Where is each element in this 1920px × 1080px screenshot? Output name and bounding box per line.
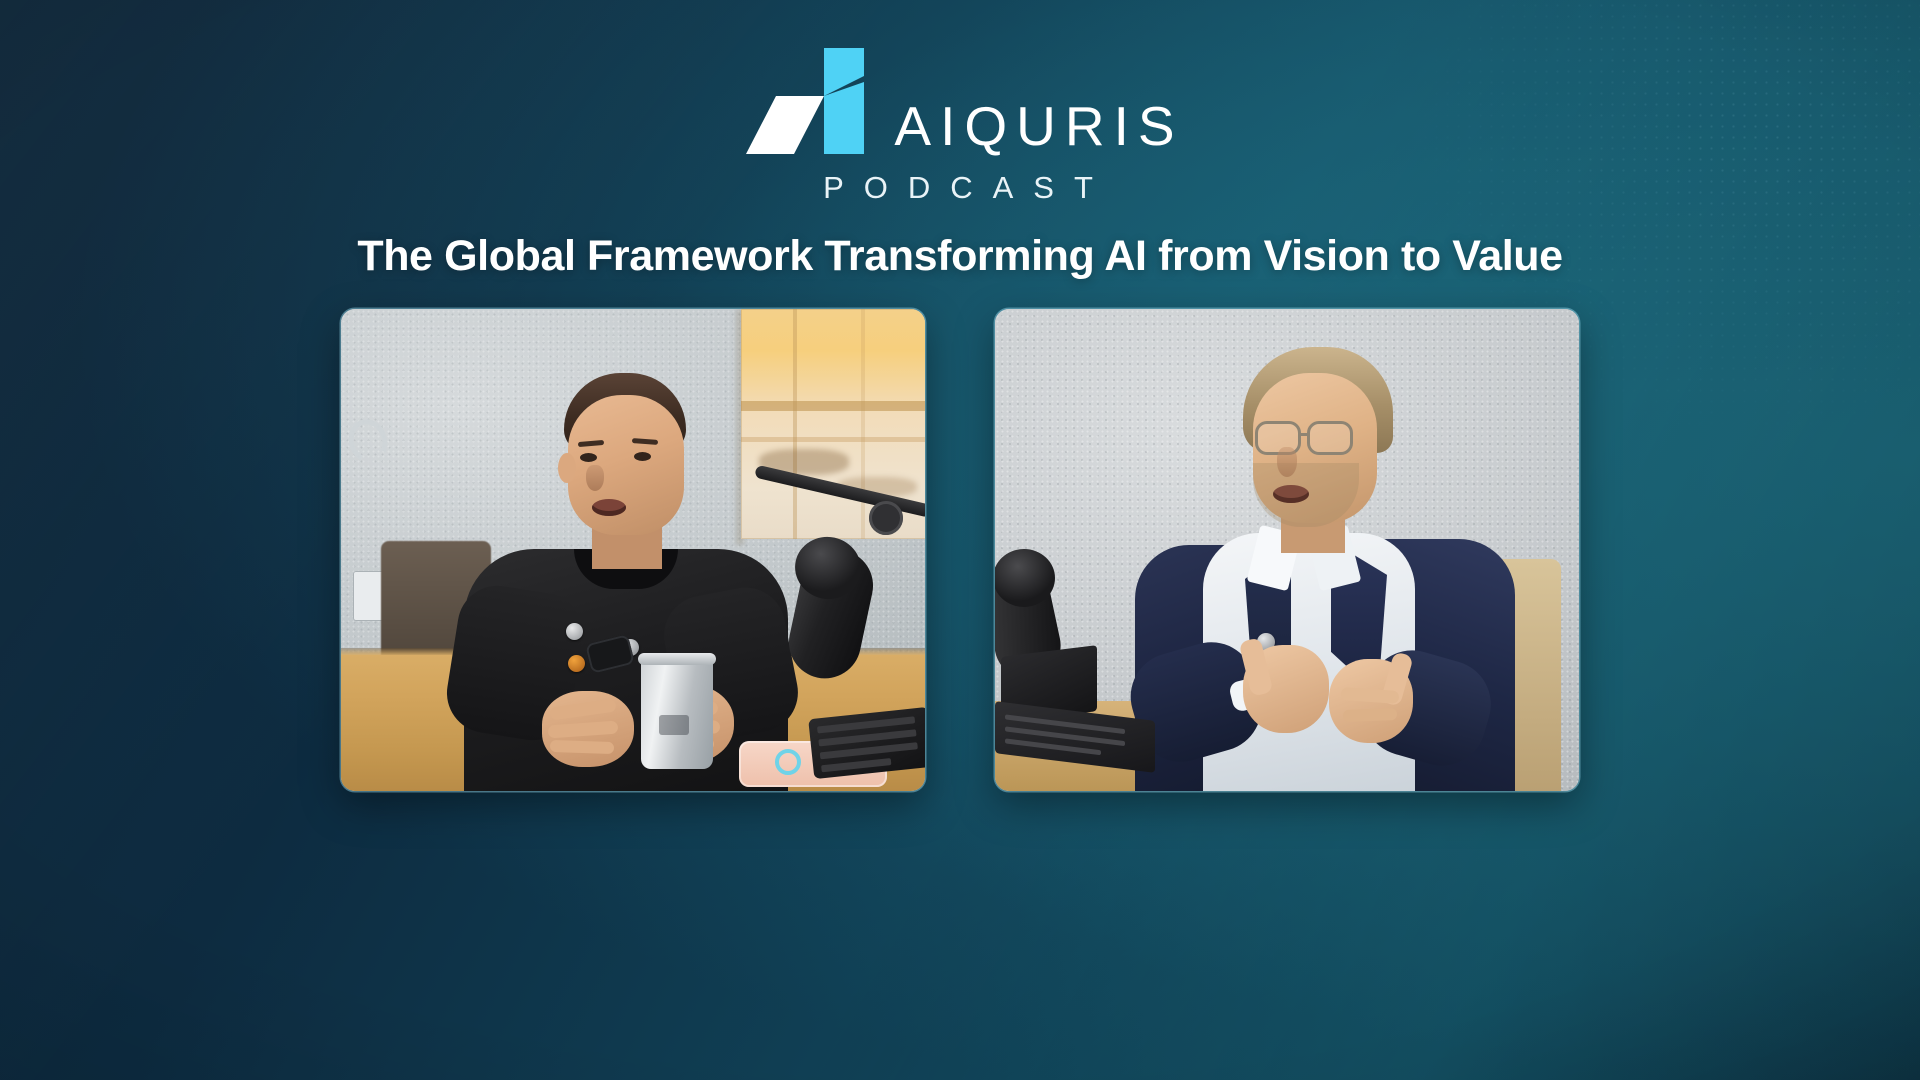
phone-ring-holder	[775, 749, 801, 775]
nose	[1277, 447, 1297, 477]
lapel-pin	[568, 655, 585, 672]
right-guest-figure	[1125, 347, 1525, 791]
guest-photo-right	[995, 309, 1579, 791]
finger	[550, 740, 614, 754]
head	[568, 395, 684, 535]
eye	[580, 453, 597, 462]
left-guest-figure	[446, 373, 806, 791]
photo-scene-right	[995, 309, 1579, 791]
tumbler-rim	[638, 653, 716, 665]
glasses-lens	[1307, 421, 1353, 455]
art-stripe	[861, 309, 865, 539]
aiquris-logo-mark	[736, 48, 868, 154]
ear	[558, 453, 576, 483]
nose	[586, 465, 604, 491]
keyboard-row	[821, 758, 891, 772]
finger	[1343, 708, 1397, 722]
eye	[634, 452, 651, 461]
mic-boom-joint	[869, 501, 903, 535]
brand-lockup: AIQURIS PODCAST	[736, 48, 1183, 206]
mouth-open-speaking	[1273, 485, 1309, 503]
episode-title: The Global Framework Transforming AI fro…	[357, 232, 1562, 281]
mouth-open-speaking	[592, 499, 626, 516]
lapel-pin	[566, 623, 583, 640]
title-card: AIQURIS PODCAST The Global Framework Tra…	[0, 0, 1920, 1080]
brand-sub-wordmark: PODCAST	[823, 170, 1113, 206]
photo-scene-left	[341, 309, 925, 791]
glasses-bridge	[1301, 433, 1309, 436]
tumbler-logo	[659, 715, 689, 735]
microphone-windscreen	[995, 549, 1055, 607]
brand-wordmark: AIQURIS	[894, 101, 1183, 154]
guest-photo-left	[341, 309, 925, 791]
keyboard	[808, 707, 925, 779]
metal-tumbler	[641, 659, 713, 769]
logo-row: AIQURIS	[736, 48, 1183, 154]
guest-photo-row	[341, 309, 1579, 791]
